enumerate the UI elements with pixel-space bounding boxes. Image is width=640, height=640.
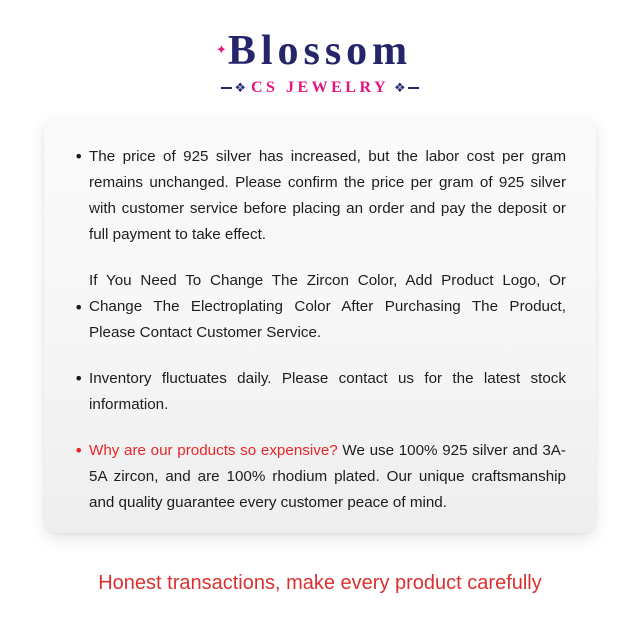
dash-right-icon	[408, 87, 419, 89]
list-item-text: The price of 925 silver has increased, b…	[89, 144, 566, 248]
list-item-highlight: Why are our products so expensive?	[89, 442, 338, 459]
list-item: • The price of 925 silver has increased,…	[74, 144, 566, 248]
list-item: • Inventory fluctuates daily. Please con…	[74, 366, 566, 418]
brand-wordmark: ✦ Blossom	[214, 28, 426, 74]
dash-left-icon	[221, 87, 232, 89]
list-item-text: If You Need To Change The Zircon Color, …	[89, 268, 566, 346]
list-item-text: Why are our products so expensive? We us…	[89, 438, 566, 516]
ornament-left: ❖	[221, 82, 246, 95]
bullet-marker-icon: •	[74, 438, 89, 464]
brand-subtitle-text: CS JEWELRY	[251, 79, 389, 97]
notice-card: • The price of 925 silver has increased,…	[44, 118, 596, 533]
footer-tagline: Honest transactions, make every product …	[0, 570, 640, 596]
list-item-text: Inventory fluctuates daily. Please conta…	[89, 366, 566, 418]
floret-left-icon: ❖	[234, 82, 246, 95]
notice-bullet-list: • The price of 925 silver has increased,…	[74, 144, 566, 516]
floret-right-icon: ❖	[394, 82, 406, 95]
brand-name-text: Blossom	[228, 28, 412, 74]
ornament-right: ❖	[394, 82, 419, 95]
brand-header: ✦ Blossom ❖ CS JEWELRY ❖	[0, 28, 640, 98]
list-item: • Why are our products so expensive? We …	[74, 438, 566, 516]
bullet-marker-icon: •	[74, 144, 89, 170]
list-item: • If You Need To Change The Zircon Color…	[74, 268, 566, 346]
brand-subtitle-row: ❖ CS JEWELRY ❖	[0, 78, 640, 98]
sparkle-icon: ✦	[216, 46, 225, 55]
bullet-marker-icon: •	[74, 366, 89, 392]
